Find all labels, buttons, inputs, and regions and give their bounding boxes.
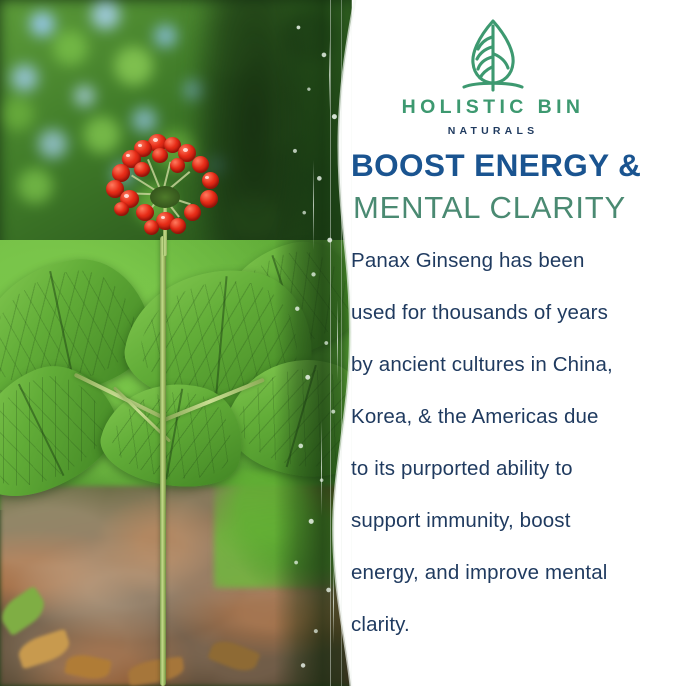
berry-highlight: [205, 176, 209, 179]
ginseng-plant-photo: [0, 0, 352, 686]
water-streak: [321, 420, 323, 516]
berry-highlight: [161, 216, 165, 219]
leaf-sprout-icon: [456, 14, 530, 94]
berry: [170, 158, 185, 173]
body-copy: Panax Ginseng has been used for thousand…: [351, 246, 679, 662]
plant-stem: [160, 236, 166, 686]
body-line: energy, and improve mental: [351, 558, 679, 610]
berry: [184, 204, 201, 221]
berry: [152, 148, 168, 163]
berry-highlight: [138, 144, 142, 147]
brand-logo[interactable]: HOLISTIC BIN NATURALS: [348, 14, 638, 136]
ginseng-product-infographic: HOLISTIC BIN NATURALS BOOST ENERGY & MEN…: [0, 0, 679, 686]
body-line: Panax Ginseng has been: [351, 246, 679, 298]
headline-line-1: BOOST ENERGY &: [351, 150, 641, 182]
body-line: to its purported ability to: [351, 454, 679, 506]
berry: [200, 190, 218, 208]
body-line: Korea, & the Americas due: [351, 402, 679, 454]
berry-highlight: [153, 138, 158, 142]
headline-line-2: MENTAL CLARITY: [353, 192, 626, 223]
berry-highlight: [183, 148, 188, 152]
ginseng-berry-cluster: [106, 134, 222, 238]
berry: [192, 156, 209, 173]
water-streak: [313, 160, 315, 250]
berry: [202, 172, 219, 189]
text-panel: HOLISTIC BIN NATURALS BOOST ENERGY & MEN…: [348, 0, 679, 686]
body-line: clarity.: [351, 610, 679, 662]
brand-name: HOLISTIC BIN: [348, 98, 638, 118]
berry: [170, 218, 186, 234]
body-line: support immunity, boost: [351, 506, 679, 558]
body-line: used for thousands of years: [351, 298, 679, 350]
berry: [144, 220, 159, 235]
brand-tagline: NATURALS: [348, 126, 638, 137]
berry-highlight: [124, 194, 129, 198]
body-line: by ancient cultures in China,: [351, 350, 679, 402]
berry: [134, 162, 150, 177]
umbel-receptacle: [150, 186, 180, 208]
berry: [114, 202, 129, 216]
berry: [136, 204, 154, 221]
berry-highlight: [126, 154, 130, 157]
